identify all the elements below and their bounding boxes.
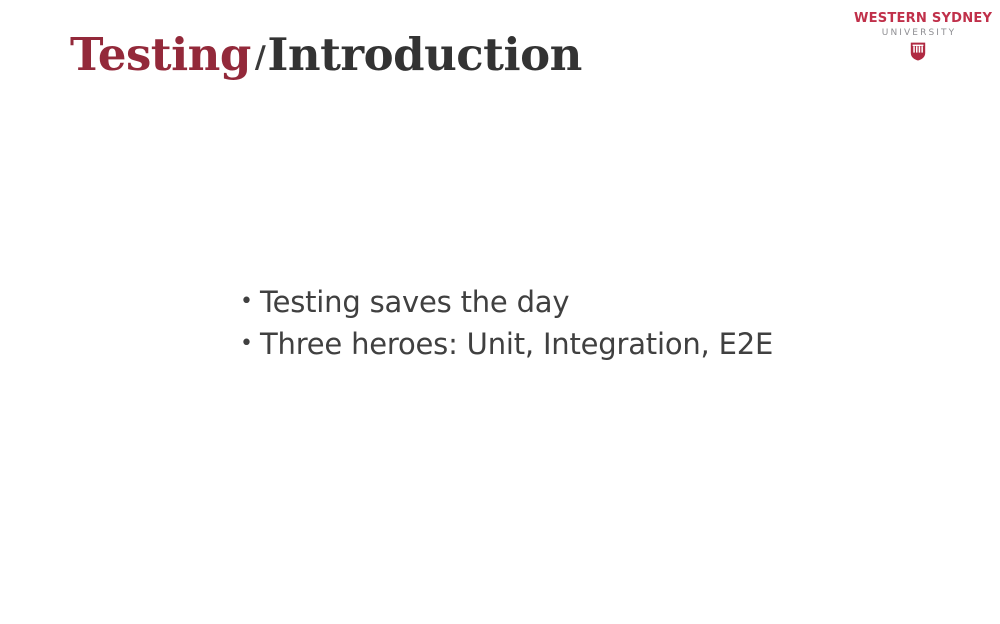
- university-logo: WESTERN SYDNEY UNIVERSITY: [852, 11, 984, 69]
- logo-subword: UNIVERSITY: [852, 27, 984, 39]
- title-subtitle: Introduction: [267, 28, 581, 81]
- bullet-text: Three heroes: Unit, Integration, E2E: [260, 323, 773, 365]
- presentation-slide: Testing/Introduction WESTERN SYDNEY UNIV…: [0, 0, 1000, 624]
- bullet-marker-icon: •: [240, 323, 260, 365]
- bullet-text: Testing saves the day: [260, 281, 569, 323]
- title-topic: Testing: [70, 28, 251, 81]
- bullet-marker-icon: •: [240, 281, 260, 323]
- list-item: • Three heroes: Unit, Integration, E2E: [240, 323, 940, 365]
- page-title: Testing/Introduction: [70, 24, 582, 92]
- logo-wordmark: WESTERN SYDNEY: [854, 11, 982, 26]
- title-separator: /: [251, 40, 267, 75]
- list-item: • Testing saves the day: [240, 281, 940, 323]
- university-crest-shield-icon: [910, 42, 926, 61]
- bullet-list: • Testing saves the day • Three heroes: …: [240, 281, 940, 365]
